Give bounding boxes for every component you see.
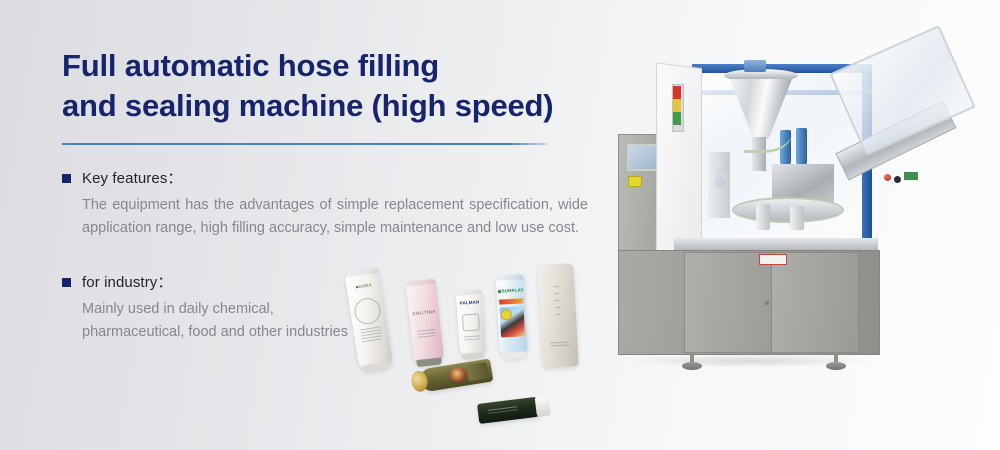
filling-machine-image bbox=[604, 24, 996, 424]
tube-text-lines bbox=[554, 286, 561, 321]
tube-holder-cup-1 bbox=[756, 204, 770, 230]
bullet-square-icon bbox=[62, 278, 71, 287]
tube-artwork-icon bbox=[353, 296, 383, 326]
tube-cap bbox=[502, 351, 526, 359]
tube-brand-label: PALMAN bbox=[460, 299, 480, 305]
regulator-column bbox=[708, 152, 730, 218]
tube-cap bbox=[362, 361, 391, 372]
tube-cap bbox=[410, 370, 429, 393]
tube-brand-label: ◉SUNPLAY bbox=[498, 287, 524, 294]
conveyor-label-green bbox=[904, 172, 918, 180]
feature-body-text: Mainly used in daily chemical, pharmaceu… bbox=[82, 298, 362, 345]
hose-tube-samples-image: ■CARA CHLITINA PALMAN bbox=[348, 252, 610, 432]
indicator-light-green bbox=[673, 112, 681, 125]
tube-text-lines bbox=[417, 329, 436, 340]
hopper-agitator-motor bbox=[744, 60, 766, 72]
feature-body-text: The equipment has the advantages of simp… bbox=[82, 194, 588, 241]
indicator-light-red bbox=[673, 86, 681, 99]
bullet-square-icon bbox=[62, 174, 71, 183]
tube-sample-1: ■CARA bbox=[344, 268, 393, 372]
tube-sample-2: CHLITINA bbox=[406, 279, 445, 367]
tube-artwork-icon bbox=[462, 313, 480, 331]
tube-footer-lines bbox=[550, 341, 569, 348]
tube-crimp bbox=[344, 268, 378, 278]
cabinet-door-left[interactable] bbox=[684, 252, 772, 353]
title-divider bbox=[62, 143, 547, 145]
page-title: Full automatic hose filling and sealing … bbox=[62, 46, 622, 127]
tube-sample-4: ◉SUNPLAY bbox=[496, 274, 528, 358]
rotary-turret-table bbox=[732, 197, 844, 223]
pneumatic-cylinder-b bbox=[796, 128, 807, 164]
safety-warning-label bbox=[759, 254, 787, 265]
tube-crimp bbox=[406, 279, 436, 287]
conveyor-control-switch-red[interactable] bbox=[884, 174, 891, 181]
feature-heading-label: for industry： bbox=[82, 271, 173, 292]
tube-cap bbox=[462, 352, 484, 360]
cabinet-door-right[interactable] bbox=[771, 252, 859, 353]
tube-brand-label: CHLITINA bbox=[412, 309, 436, 316]
feature-block-key-features: Key features： The equipment has the adva… bbox=[62, 167, 622, 241]
feature-heading-label: Key features： bbox=[82, 167, 183, 188]
tube-text-lines bbox=[360, 326, 382, 344]
feature-heading-row: Key features： bbox=[62, 167, 622, 188]
tube-sample-3: PALMAN bbox=[456, 289, 487, 359]
tube-emblem-icon bbox=[449, 367, 467, 383]
machine-foot-right-pad bbox=[826, 362, 846, 370]
tube-artwork-panel bbox=[467, 362, 489, 381]
tube-text-lines bbox=[464, 335, 480, 342]
indicator-light-yellow bbox=[673, 99, 681, 112]
tube-sample-7 bbox=[477, 396, 545, 424]
ce-warning-label-icon bbox=[628, 176, 642, 187]
tube-crimp bbox=[496, 274, 524, 280]
conveyor-control-switch-black[interactable] bbox=[894, 176, 901, 183]
tube-banner-stripe bbox=[499, 298, 523, 304]
product-banner: Full automatic hose filling and sealing … bbox=[0, 0, 1000, 450]
tube-text-lines bbox=[488, 406, 519, 416]
machine-foot-left-pad bbox=[682, 362, 702, 370]
tube-brand-label: ■CARA bbox=[355, 282, 371, 289]
tube-crimp bbox=[456, 289, 482, 296]
tube-sample-5 bbox=[537, 263, 578, 368]
tube-cap bbox=[535, 395, 551, 417]
tube-holder-cup-2 bbox=[790, 206, 804, 230]
cabinet-door-lock[interactable] bbox=[765, 301, 769, 305]
machine-worktop bbox=[674, 238, 878, 250]
